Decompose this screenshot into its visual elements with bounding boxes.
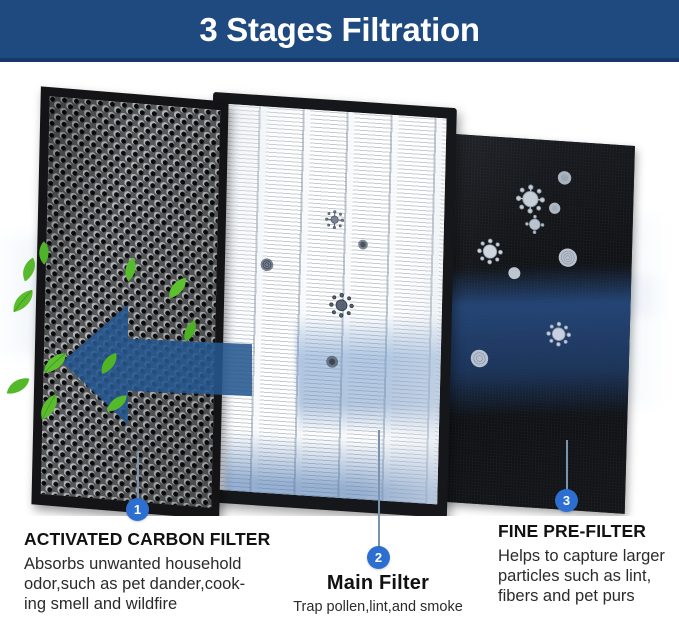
main-filter-panel [203,92,457,516]
stage-caption-2: Main Filter Trap pollen,lint,and smoke [258,572,498,617]
particle [469,347,491,369]
virus-particle [324,208,345,230]
particle [356,238,369,252]
particle [557,246,580,269]
airflow-arrow-left [62,298,252,434]
stage-3-description-line-1: Helps to capture larger [498,546,679,566]
header-banner: 3 Stages Filtration [0,0,679,62]
particle [324,354,339,370]
stage-caption-3: FINE PRE-FILTER Helps to capture larger … [498,521,679,606]
stage-2-description-line-1: Trap pollen,lint,and smoke [258,599,498,617]
filter-illustration [0,66,679,516]
page-title: 3 Stages Filtration [199,13,479,46]
stage-3-description-line-3: fibers and pet purs [498,586,679,606]
stage-3-title: FINE PRE-FILTER [498,521,679,542]
virus-particle [328,291,356,320]
stage-badge-2[interactable]: 2 [367,546,390,569]
virus-particle [522,212,547,238]
virus-particle [543,318,574,350]
stage-2-title: Main Filter [258,572,498,595]
stage-3-description-line-2: particles such as lint, [498,566,679,586]
particle [506,265,522,282]
particle [556,169,573,187]
main-filter-media [213,104,446,505]
particle [259,256,275,273]
virus-particle [475,236,506,268]
green-leaf [3,375,34,396]
stage-1-title: ACTIVATED CARBON FILTER [24,529,314,550]
particle [547,200,562,216]
